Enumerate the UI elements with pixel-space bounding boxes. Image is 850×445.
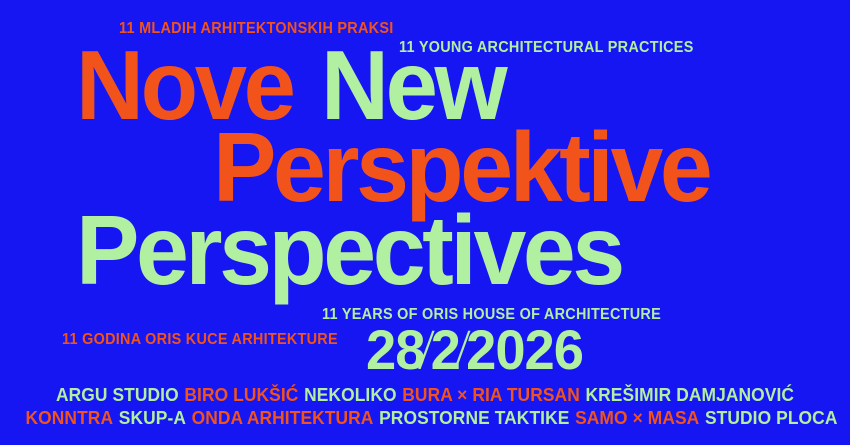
anniversary-croatian: 11 GODINA ORIS KUCE ARHITEKTURE <box>62 332 338 348</box>
studio-name: PROSTORNE TAKTIKE <box>379 407 569 428</box>
studio-name: ARGU STUDIO <box>56 384 179 405</box>
credits-row-first: ARGU STUDIO BIRO LUKŠIĆ NEKOLIKO BURA × … <box>26 386 825 405</box>
studio-name: BURA × RIA TURSAN <box>402 384 580 405</box>
studio-name: ONDA ARHITEKTURA <box>192 407 374 428</box>
studio-name: BIRO LUKŠIĆ <box>184 384 298 405</box>
event-date: 28⁄2⁄2026 <box>366 322 583 378</box>
date-separator-1: ⁄ <box>425 322 430 378</box>
date-year: 2026 <box>466 318 583 381</box>
studio-name: SKUP-A <box>119 407 186 428</box>
poster-canvas: 11 MLADIH ARHITEKTONSKIH PRAKSI 11 YOUNG… <box>0 0 850 445</box>
studio-name: KREŠIMIR DAMJANOVIĆ <box>586 384 795 405</box>
credits-row-second: KONNTRA SKUP-A ONDA ARHITEKTURA PROSTORN… <box>26 409 825 428</box>
date-separator-2: ⁄ <box>461 322 466 378</box>
studio-name: SAMO × MASA <box>575 407 699 428</box>
studio-name: KONNTRA <box>26 407 114 428</box>
studio-name: NEKOLIKO <box>304 384 397 405</box>
headline-word-perspectives: Perspectives <box>76 211 622 289</box>
studio-name: STUDIO PLOCA <box>705 407 838 428</box>
date-month: 2 <box>431 318 460 381</box>
date-day: 28 <box>366 318 424 381</box>
